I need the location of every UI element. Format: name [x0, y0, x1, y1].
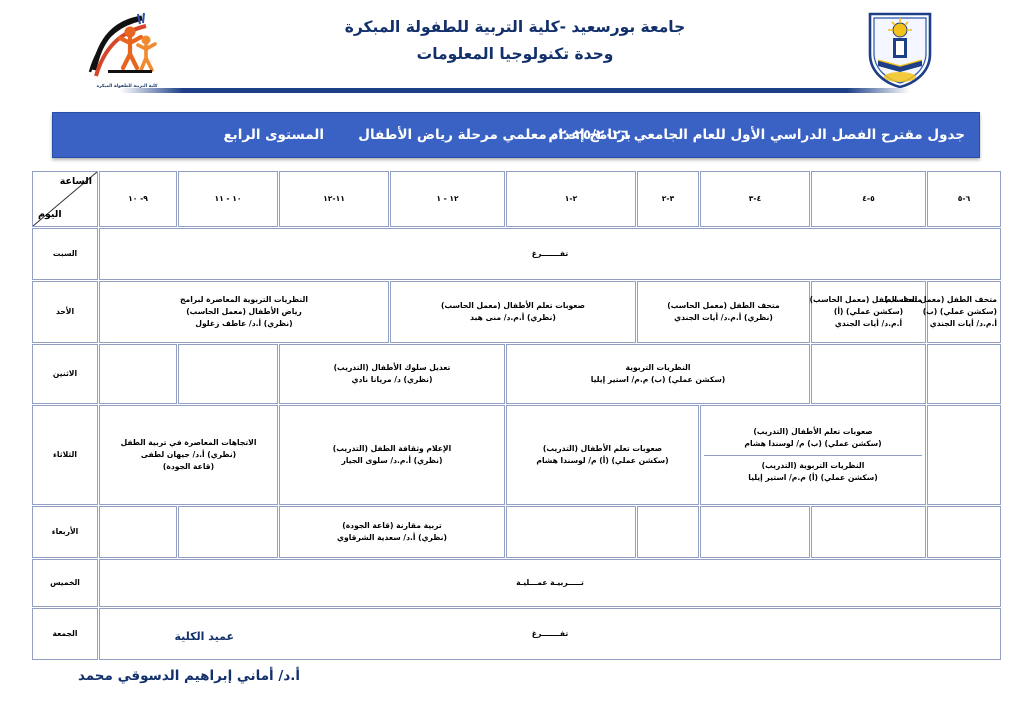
session-tuesday-3-5-split: صعوبات تعلم الأطفال (التدريب) (سكشن عملي… [700, 405, 926, 505]
course-instructor: أ.م.د/ أيات الجندي [815, 318, 922, 330]
schedule-title-bar: جدول مقترح الفصل الدراسي الأول للعام الج… [52, 112, 980, 158]
time-slot-3-4: ٤-٣ [700, 171, 810, 227]
course-section: (سكشن عملي) (ب) م.م/ استير إيليا [510, 374, 806, 386]
session-monday-5-6-empty [927, 344, 1001, 404]
row-tuesday: صعوبات تعلم الأطفال (التدريب) (سكشن عملي… [32, 405, 1001, 505]
course-title: الاتجاهات المعاصرة في تربية الطفل [103, 437, 274, 449]
course-title: تعديل سلوك الأطفال (التدريب) [283, 362, 501, 374]
course-title: متحف الطفل (معمل الحاسب) [641, 300, 806, 312]
program-title: برنامج إعداد معلمي مرحلة رياض الأطفال [358, 127, 631, 143]
row-monday: النظريات التربوية (سكشن عملي) (ب) م.م/ ا… [32, 344, 1001, 404]
day-label-friday: الجمعة [32, 608, 98, 660]
course-instructor: (نظري) أ.د/ سعدية الشرقاوي [283, 532, 501, 544]
day-label-wednesday: الأربعاء [32, 506, 98, 558]
session-wednesday-1-2-empty [506, 506, 636, 558]
course-instructor: أ.م.د/ أيات الجندي [931, 318, 997, 330]
time-slot-2-3: ٣-٢ [637, 171, 699, 227]
dean-role-label: عميد الكلية [174, 630, 234, 643]
session-wednesday-11-1: تربية مقارنة (قاعة الجودة) (نظري) أ.د/ س… [279, 506, 505, 558]
session-wednesday-4-5-empty [811, 506, 926, 558]
header-divider [120, 88, 910, 93]
course-instructor: (نظري) أ.م.د/ سلوى الجيار [283, 455, 501, 467]
session-sunday-9-12: النظريات التربوية المعاصرة لبرامج رياض ا… [99, 281, 389, 343]
course-section: (سكشن عملي) (أ) [815, 306, 922, 318]
session-tuesday-9-11: الاتجاهات المعاصرة في تربية الطفل (نظري)… [99, 405, 278, 505]
course-location: رياض الأطفال (معمل الحاسب) [103, 306, 385, 318]
course-instructor: (نظري) أ.د/ جيهان لطفى [103, 449, 274, 461]
thursday-practice-block: تـــــربيـة عمـــليـة [99, 559, 1001, 607]
session-wednesday-9-10-empty [99, 506, 177, 558]
session-wednesday-2-3-empty [637, 506, 699, 558]
course-instructor: (نظري) أ.م.د/ منى هبد [394, 312, 632, 324]
row-wednesday: تربية مقارنة (قاعة الجودة) (نظري) أ.د/ س… [32, 506, 1001, 558]
time-slot-9-10: ٩- ١٠ [99, 171, 177, 227]
course-title: الإعلام وثقافة الطفل (التدريب) [283, 443, 501, 455]
timetable-header-row: ٦-٥ ٥-٤ ٤-٣ ٣-٢ ٢-١ ١٢ - ١ ١١-١٢ ١٠ - ١١… [32, 171, 1001, 227]
session-sunday-4-5: متحف الطفل (معمل الحاسب) (سكشن عملي) (أ)… [811, 281, 926, 343]
session-sunday-2-4: متحف الطفل (معمل الحاسب) (نظري) أ.م.د/ أ… [637, 281, 810, 343]
time-slot-4-5: ٥-٤ [811, 171, 926, 227]
friday-free-block: تفـــــــرغ [99, 608, 1001, 660]
day-label-monday: الاثنين [32, 344, 98, 404]
time-slot-1-2: ٢-١ [506, 171, 636, 227]
level-title: المستوى الرابع [223, 127, 324, 143]
course-section: (سكشن عملي) (أ) م/ لوسندا هشام [510, 455, 695, 467]
weekly-timetable: ٦-٥ ٥-٤ ٤-٣ ٣-٢ ٢-١ ١٢ - ١ ١١-١٢ ١٠ - ١١… [31, 170, 1002, 661]
header-titles: جامعة بورسعيد -كلية التربية للطفولة المب… [300, 18, 730, 63]
course-title: متحف الطفل (معمل الحاسب) [931, 294, 997, 306]
course-title: النظريات التربوية المعاصرة لبرامج [103, 294, 385, 306]
course-instructor: (نظري) أ.م.د/ أيات الجندي [641, 312, 806, 324]
university-faculty-title: جامعة بورسعيد -كلية التربية للطفولة المب… [300, 18, 730, 36]
corner-hour-label: الساعة [60, 175, 92, 190]
port-said-university-shield-logo [862, 8, 938, 90]
session-wednesday-5-6-empty [927, 506, 1001, 558]
day-label-thursday: الخميس [32, 559, 98, 607]
corner-hour-day-header: الساعة اليوم [32, 171, 98, 227]
day-label-saturday: السبت [32, 228, 98, 280]
course-title: متحف الطفل (معمل الحاسب) [815, 294, 922, 306]
dean-name-label: أ.د/ أماني إبراهيم الدسوقي محمد [78, 668, 300, 684]
session-monday-9-10-empty [99, 344, 177, 404]
day-label-sunday: الأحد [32, 281, 98, 343]
time-slot-5-6: ٦-٥ [927, 171, 1001, 227]
course-title: صعوبات تعلم الأطفال (التدريب) [510, 443, 695, 455]
row-thursday: تـــــربيـة عمـــليـة الخميس [32, 559, 1001, 607]
time-slot-11-12: ١١-١٢ [279, 171, 389, 227]
day-label-tuesday: الثلاثاء [32, 405, 98, 505]
session-monday-10-11-empty [178, 344, 278, 404]
timetable-page: كلية التربية للطفولة المبكرة جامعة بورسع… [0, 0, 1024, 724]
corner-day-label: اليوم [38, 208, 62, 223]
session-tuesday-upper: صعوبات تعلم الأطفال (التدريب) (سكشن عملي… [704, 422, 922, 455]
row-saturday: تفـــــــرغ السبت [32, 228, 1001, 280]
course-title: النظريات التربوية (التدريب) [707, 460, 919, 472]
saturday-free-block: تفـــــــرغ [99, 228, 1001, 280]
session-wednesday-10-11-empty [178, 506, 278, 558]
course-section: (سكشن عملي) (ب) [931, 306, 997, 318]
session-monday-11-1: تعديل سلوك الأطفال (التدريب) (نظري) د/ م… [279, 344, 505, 404]
time-slot-12-1: ١٢ - ١ [390, 171, 505, 227]
course-location: (قاعة الجودة) [103, 461, 274, 473]
session-tuesday-1-3: صعوبات تعلم الأطفال (التدريب) (سكشن عملي… [506, 405, 699, 505]
row-sunday: متحف الطفل (معمل الحاسب) (سكشن عملي) (ب)… [32, 281, 1001, 343]
session-tuesday-lower: النظريات التربوية (التدريب) (سكشن عملي) … [704, 456, 922, 488]
course-section: (سكشن عملي) (ب) م/ لوسندا هشام [707, 438, 919, 450]
course-instructor: (نظري) أ.د/ عاطف زغلول [103, 318, 385, 330]
session-sunday-12-2: صعوبات تعلم الأطفال (معمل الحاسب) (نظري)… [390, 281, 636, 343]
course-title: تربية مقارنة (قاعة الجودة) [283, 520, 501, 532]
session-monday-1-4: النظريات التربوية (سكشن عملي) (ب) م.م/ ا… [506, 344, 810, 404]
session-wednesday-3-4-empty [700, 506, 810, 558]
time-slot-10-11: ١٠ - ١١ [178, 171, 278, 227]
page-header: كلية التربية للطفولة المبكرة جامعة بورسع… [0, 0, 1024, 98]
session-tuesday-5-6-empty [927, 405, 1001, 505]
course-title: النظريات التربوية [510, 362, 806, 374]
session-monday-4-5-empty [811, 344, 926, 404]
it-unit-subtitle: وحدة تكنولوجيا المعلومات [300, 45, 730, 63]
course-section: (سكشن عملي) (أ) م.م/ استير إيليا [707, 472, 919, 484]
faculty-emblem-logo [86, 10, 168, 84]
course-instructor: (نظري) د/ مريانا نادي [283, 374, 501, 386]
course-title: صعوبات تعلم الأطفال (معمل الحاسب) [394, 300, 632, 312]
course-title: صعوبات تعلم الأطفال (التدريب) [707, 426, 919, 438]
session-sunday-5-6: متحف الطفل (معمل الحاسب) (سكشن عملي) (ب)… [927, 281, 1001, 343]
session-tuesday-11-1: الإعلام وثقافة الطفل (التدريب) (نظري) أ.… [279, 405, 505, 505]
